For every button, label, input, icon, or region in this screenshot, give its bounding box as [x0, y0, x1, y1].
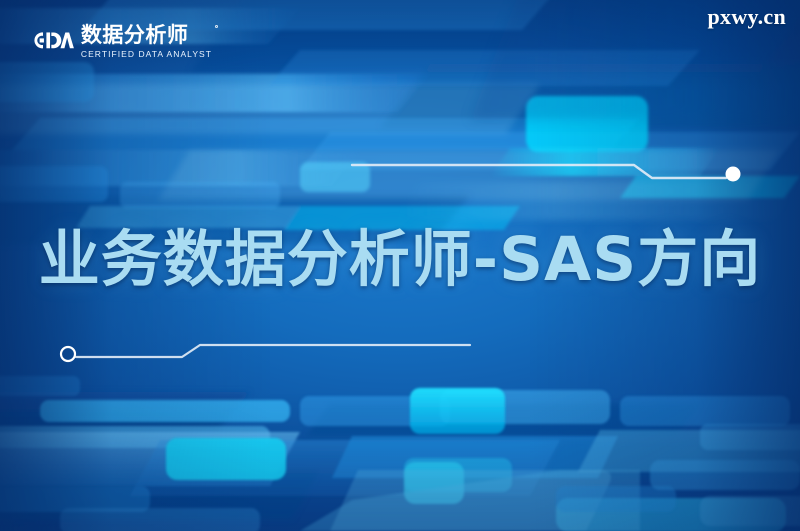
- site-watermark: pxwy.cn: [707, 4, 786, 30]
- cda-logomark-icon: [32, 24, 74, 57]
- logo-english-tagline: CERTIFIED DATA ANALYST: [81, 50, 212, 59]
- page-title-text: 业务数据分析师-SAS方向: [39, 229, 761, 290]
- logo-chinese-name: 数据分析师: [81, 25, 212, 46]
- course-banner: 数据分析师 CERTIFIED DATA ANALYST pxwy.cn 业务数…: [0, 0, 800, 531]
- cda-logo[interactable]: 数据分析师 CERTIFIED DATA ANALYST: [32, 24, 212, 66]
- page-title: 业务数据分析师-SAS方向: [0, 216, 800, 302]
